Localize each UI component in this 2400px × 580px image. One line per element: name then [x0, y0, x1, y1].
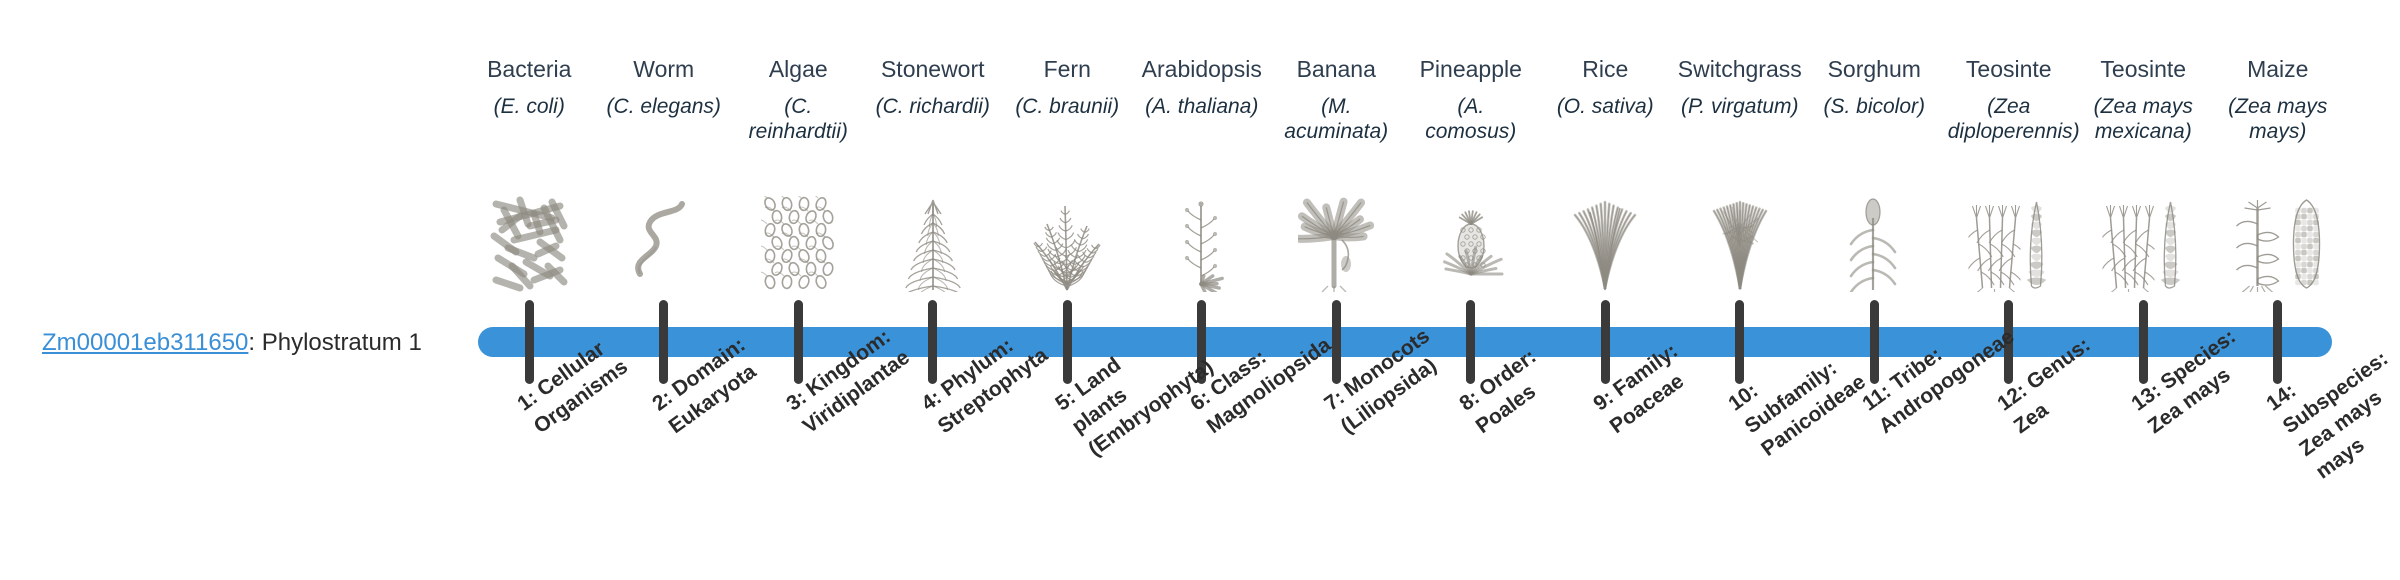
organism-common-name: Arabidopsis [1142, 56, 1262, 82]
organism-illustration [490, 196, 568, 292]
organism-scientific-name: (C. braunii) [1015, 94, 1119, 119]
organism-scientific-name: (C. richardii) [876, 94, 990, 119]
organism-column: Algae(C. reinhardtii) [731, 0, 866, 300]
organism-column-header-row: Bacteria(E. coli)Worm(C. elegans) Algae(… [462, 0, 2345, 300]
organism-illustration [2103, 196, 2184, 292]
organism-scientific-name: (S. bicolor) [1823, 94, 1925, 119]
organism-column: Stonewort(C. richardii) [866, 0, 1001, 300]
sorghum-icon [1839, 196, 1909, 292]
organism-common-name: Switchgrass [1678, 56, 1802, 82]
organism-common-name: Pineapple [1420, 56, 1522, 82]
organism-column: Teosinte(Zea mays mexicana) [2076, 0, 2211, 300]
gene-phylostratum-value: Phylostratum 1 [262, 329, 422, 356]
organism-column: Banana(M. acuminata) [1269, 0, 1404, 300]
organism-illustration [1438, 196, 1504, 292]
organism-column: Pineapple(A. comosus) [1404, 0, 1539, 300]
organism-common-name: Teosinte [1966, 56, 2052, 82]
organism-scientific-name: (Zea mays mays) [2217, 94, 2339, 144]
organism-scientific-name: (A. comosus) [1410, 94, 1532, 144]
gene-label-separator: : [248, 329, 261, 356]
organism-column: Arabidopsis(A. thaliana) [1135, 0, 1270, 300]
organism-column: Sorghum(S. bicolor) [1807, 0, 1942, 300]
organism-scientific-name: (M. acuminata) [1275, 94, 1397, 144]
organism-common-name: Sorghum [1828, 56, 1921, 82]
fern-icon [1027, 196, 1107, 292]
organism-common-name: Rice [1582, 56, 1628, 82]
organism-common-name: Teosinte [2100, 56, 2186, 82]
organism-scientific-name: (E. coli) [494, 94, 565, 119]
organism-column: Rice(O. sativa) [1538, 0, 1673, 300]
teosinte-plant-icon [1968, 196, 2020, 292]
organism-scientific-name: (A. thaliana) [1145, 94, 1258, 119]
organism-common-name: Stonewort [881, 56, 985, 82]
maize-ear-icon [2288, 196, 2324, 292]
organism-illustration [630, 196, 698, 292]
teosinte-ear-icon [2158, 196, 2184, 292]
organism-common-name: Bacteria [487, 56, 571, 82]
organism-scientific-name: (O. sativa) [1557, 94, 1654, 119]
organism-column: Worm(C. elegans) [597, 0, 732, 300]
organism-common-name: Maize [2247, 56, 2308, 82]
organism-illustration [2231, 196, 2324, 292]
organism-illustration [1298, 196, 1374, 292]
worm-icon [630, 196, 698, 292]
organism-illustration [761, 196, 835, 292]
organism-illustration [1027, 196, 1107, 292]
stonewort-icon [901, 196, 965, 292]
organism-column: Maize(Zea mays mays) [2211, 0, 2346, 300]
organism-scientific-name: (P. virgatum) [1681, 94, 1798, 119]
organism-scientific-name: (Zea mays mexicana) [2082, 94, 2204, 144]
organism-illustration [1968, 196, 2049, 292]
gene-phylostratum-label: Zm00001eb311650: Phylostratum 1 [42, 329, 422, 357]
maize-plant-icon [2231, 196, 2285, 292]
gene-id-link[interactable]: Zm00001eb311650 [42, 329, 248, 356]
organism-common-name: Algae [769, 56, 828, 82]
organism-illustration [1568, 196, 1642, 292]
organism-column: Fern(C. braunii) [1000, 0, 1135, 300]
arabidopsis-icon [1167, 196, 1237, 292]
banana-icon [1298, 196, 1374, 292]
algae-icon [761, 196, 835, 292]
rice-icon [1568, 196, 1642, 292]
teosinte-plant-icon [2103, 196, 2155, 292]
organism-common-name: Worm [633, 56, 694, 82]
teosinte-ear-icon [2023, 196, 2049, 292]
organism-illustration [1839, 196, 1909, 292]
organism-scientific-name: (Zea diploperennis) [1948, 94, 2070, 144]
organism-column: Bacteria(E. coli) [462, 0, 597, 300]
organism-scientific-name: (C. reinhardtii) [737, 94, 859, 144]
organism-scientific-name: (C. elegans) [607, 94, 721, 119]
organism-illustration [1167, 196, 1237, 292]
organism-common-name: Banana [1297, 56, 1376, 82]
phylostratigraphy-timeline-figure: Bacteria(E. coli)Worm(C. elegans) Algae(… [0, 0, 2400, 580]
organism-illustration [901, 196, 965, 292]
organism-illustration [1703, 196, 1777, 292]
organism-column: Teosinte(Zea diploperennis) [1942, 0, 2077, 300]
stratum-label-row: 1: Cellular Organisms2: Domain: Eukaryot… [462, 384, 2345, 580]
organism-column: Switchgrass(P. virgatum) [1673, 0, 1808, 300]
pineapple-icon [1438, 196, 1504, 292]
organism-common-name: Fern [1044, 56, 1091, 82]
bacteria-icon [490, 196, 568, 292]
switchgrass-icon [1703, 196, 1777, 292]
